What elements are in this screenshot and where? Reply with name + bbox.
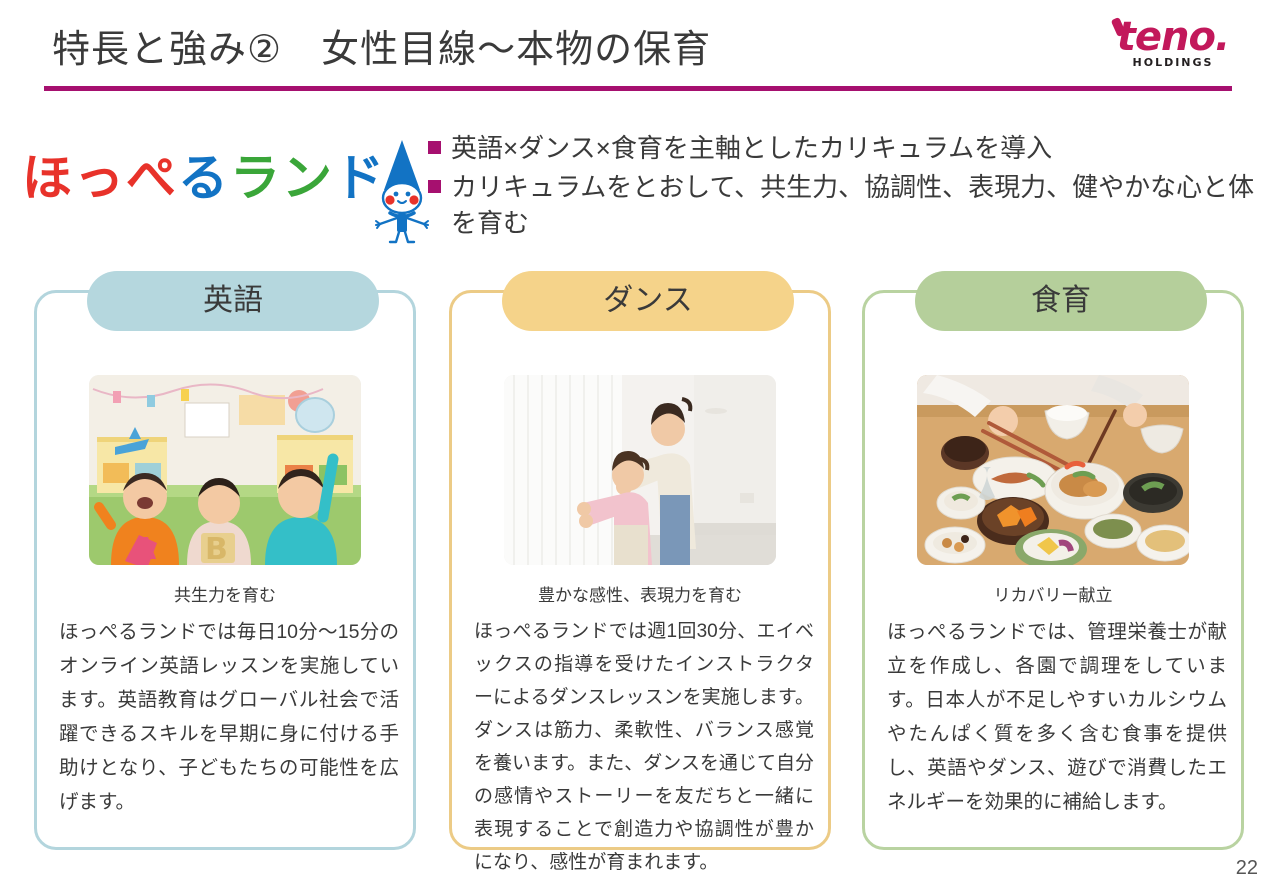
bullet-item: カリキュラムをとおして、共生力、協調性、表現力、健やかな心と体を育む — [428, 169, 1268, 241]
svg-text:A: A — [133, 532, 157, 565]
brand-wordmark-text: teno. — [1117, 14, 1229, 60]
gnome-mascot-icon — [370, 138, 434, 244]
card-dance-pill-label: ダンス — [502, 271, 794, 331]
card-dance-caption: 豊かな感性、表現力を育む — [452, 581, 828, 606]
bullet-item: 英語×ダンス×食育を主軸としたカリキュラムを導入 — [428, 130, 1268, 166]
bullet-text: カリキュラムをとおして、共生力、協調性、表現力、健やかな心と体を育む — [451, 169, 1268, 241]
bullet-text: 英語×ダンス×食育を主軸としたカリキュラムを導入 — [451, 130, 1052, 166]
curriculum-card-grid: 英語 — [0, 268, 1280, 868]
page-title: 特長と強み② 女性目線～本物の保育 — [52, 18, 711, 73]
card-english-pill-label: 英語 — [87, 271, 379, 331]
bullet-square-icon — [428, 180, 441, 193]
slide-header: 特長と強み② 女性目線～本物の保育 teno. HOLDINGS — [0, 0, 1280, 96]
card-english: 英語 — [34, 290, 416, 850]
card-food: 食育 — [862, 290, 1244, 850]
svg-text:B: B — [205, 532, 228, 565]
card-food-pill-label: 食育 — [915, 271, 1207, 331]
card-dance-photo — [504, 375, 776, 565]
card-dance-body: ほっぺるランドでは週1回30分、エイベックスの指導を受けたインストラクターによる… — [474, 615, 814, 879]
bullet-square-icon — [428, 141, 441, 154]
brand-wordmark: teno. — [1108, 14, 1238, 60]
card-english-body: ほっぺるランドでは毎日10分～15分のオンライン英語レッスンを実施しています。英… — [59, 615, 399, 819]
teno-holdings-logo: teno. HOLDINGS — [1108, 14, 1238, 84]
intro-band: ほっぺるランド — [0, 118, 1280, 258]
hoppel-land-wordmark: ほっぺるランド — [22, 148, 386, 208]
hoppel-part-ho: ほ — [22, 150, 74, 206]
title-underline-rule — [44, 86, 1232, 91]
card-english-caption: 共生力を育む — [37, 581, 413, 606]
intro-bullet-list: 英語×ダンス×食育を主軸としたカリキュラムを導入 カリキュラムをとおして、共生力… — [428, 130, 1268, 244]
card-english-photo: A B — [89, 375, 361, 565]
card-dance: ダンス — [449, 290, 831, 850]
hoppel-land-logo: ほっぺるランド — [18, 132, 418, 232]
slide-root: 特長と強み② 女性目線～本物の保育 teno. HOLDINGS ほっぺるランド — [0, 0, 1280, 886]
hoppel-part-ran: ラン — [230, 150, 334, 206]
hoppel-part-ppe: っぺ — [74, 150, 178, 206]
card-food-caption: リカバリー献立 — [865, 581, 1241, 606]
card-food-body: ほっぺるランドでは、管理栄養士が献立を作成し、各園で調理をしています。日本人が不… — [887, 615, 1227, 819]
hoppel-part-ru: る — [178, 150, 230, 206]
page-number: 22 — [1236, 857, 1258, 880]
card-food-photo — [917, 375, 1189, 565]
